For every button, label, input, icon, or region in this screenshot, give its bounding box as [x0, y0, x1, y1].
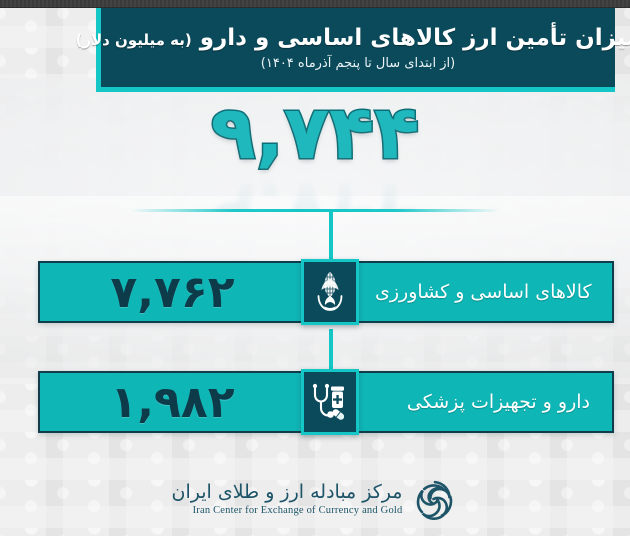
- organization-name-fa: مرکز مبادله ارز و طلای ایران: [172, 482, 403, 503]
- connector-horizontal-line: [130, 209, 500, 212]
- page-title-unit: (به میلیون دلار): [75, 31, 191, 49]
- corn-agriculture-icon: [301, 259, 359, 325]
- top-chrome-strip: [0, 0, 630, 8]
- page-subtitle: (از ابتدای سال تا پنجم آذرماه ۱۴۰۴): [261, 56, 455, 71]
- row-label-agriculture: کالاهای اساسی و کشاورزی: [375, 281, 614, 303]
- page-title-main: میزان تأمین ارز کالاهای اساسی و دارو: [200, 25, 630, 51]
- total-value-block: ۹,۷۴۴: [0, 96, 630, 201]
- row-label-medicine: دارو و تجهیزات پزشکی: [375, 391, 612, 413]
- row-value-medicine: ۱,۹۸۲: [40, 377, 305, 428]
- page-title: میزان تأمین ارز کالاهای اساسی و دارو (به…: [75, 25, 630, 51]
- footer-branding: مرکز مبادله ارز و طلای ایران Iran Center…: [0, 470, 630, 528]
- header-panel: میزان تأمین ارز کالاهای اساسی و دارو (به…: [96, 7, 615, 92]
- connector-vertical-line-top: [329, 209, 333, 261]
- connector-vertical-line-bottom: [329, 329, 333, 371]
- stethoscope-medicine-icon: [301, 369, 359, 435]
- rosette-pinwheel-logo: [412, 476, 458, 522]
- footer-text-block: مرکز مبادله ارز و طلای ایران Iran Center…: [172, 482, 403, 517]
- organization-name-en: Iran Center for Exchange of Currency and…: [193, 505, 403, 516]
- total-value: ۹,۷۴۴: [211, 96, 420, 170]
- row-value-agriculture: ۷,۷۶۲: [40, 267, 305, 318]
